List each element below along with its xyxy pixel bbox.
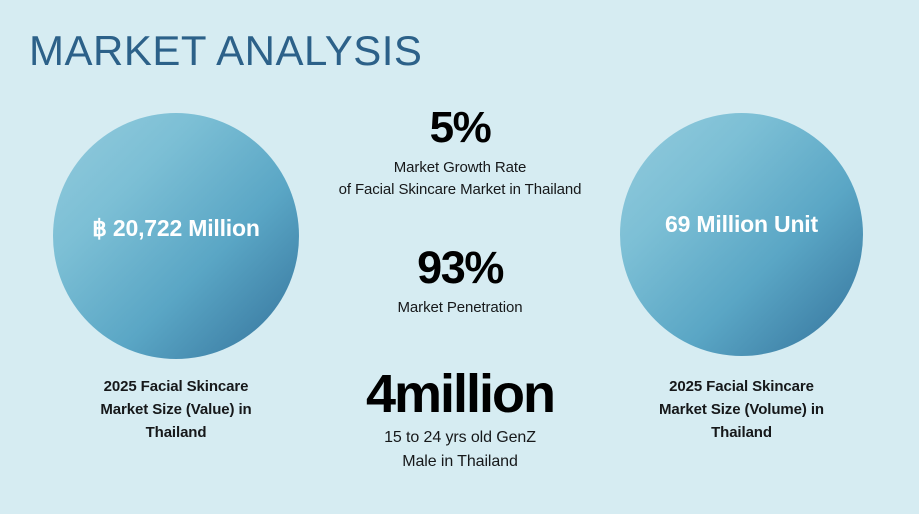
genz-population-number: 4million	[325, 365, 595, 423]
growth-rate-description: Market Growth Rate of Facial Skincare Ma…	[325, 157, 595, 201]
growth-rate-description-line-2: of Facial Skincare Market in Thailand	[325, 179, 595, 201]
market-value-caption-line-1: 2025 Facial Skincare	[53, 375, 299, 398]
market-volume-caption-line-3: Thailand	[618, 421, 865, 444]
growth-rate-description-line-1: Market Growth Rate	[325, 157, 595, 179]
market-volume-caption-line-2: Market Size (Volume) in	[618, 398, 865, 421]
market-value-figure: ฿ 20,722 Million	[92, 215, 259, 242]
market-penetration-number: 93%	[325, 243, 595, 293]
genz-population-description-line-1: 15 to 24 yrs old GenZ	[325, 426, 595, 450]
market-volume-caption: 2025 Facial Skincare Market Size (Volume…	[618, 375, 865, 444]
market-volume-circle: 69 Million Unit	[620, 113, 863, 356]
market-value-circle: ฿ 20,722 Million	[53, 113, 299, 359]
growth-rate-number: 5%	[325, 104, 595, 152]
market-volume-figure: 69 Million Unit	[665, 211, 818, 238]
market-analysis-slide: MARKET ANALYSIS ฿ 20,722 Million 2025 Fa…	[0, 0, 919, 514]
genz-population-description: 15 to 24 yrs old GenZ Male in Thailand	[325, 426, 595, 474]
market-value-caption-line-2: Market Size (Value) in	[53, 398, 299, 421]
market-value-caption-line-3: Thailand	[53, 421, 299, 444]
market-penetration-description: Market Penetration	[325, 297, 595, 319]
growth-rate-stat: 5% Market Growth Rate of Facial Skincare…	[325, 104, 595, 201]
page-title: MARKET ANALYSIS	[29, 26, 422, 76]
genz-population-stat: 4million 15 to 24 yrs old GenZ Male in T…	[325, 365, 595, 474]
genz-population-description-line-2: Male in Thailand	[325, 450, 595, 474]
market-penetration-stat: 93% Market Penetration	[325, 243, 595, 319]
market-value-caption: 2025 Facial Skincare Market Size (Value)…	[53, 375, 299, 444]
center-statistics-column: 5% Market Growth Rate of Facial Skincare…	[325, 104, 595, 474]
market-volume-caption-line-1: 2025 Facial Skincare	[618, 375, 865, 398]
market-penetration-description-line-1: Market Penetration	[325, 297, 595, 319]
